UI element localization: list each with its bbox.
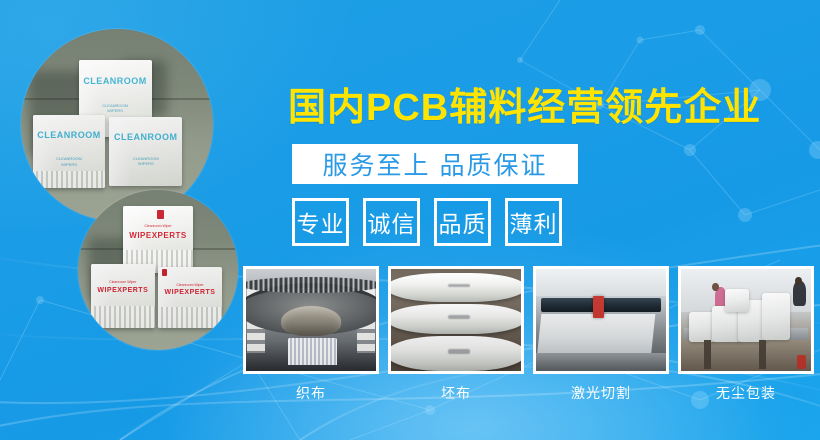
thumbnail-caption: 激光切割 <box>533 383 669 403</box>
wipes-pack: CLEANROOM CLEANROOMWIPERS <box>33 115 106 188</box>
process-thumbnail-greige-fabric: 坯布 <box>388 266 524 403</box>
keyword-label: 品质 <box>439 205 487 239</box>
wipexperts-pack: Cleanroom Wiper WIPEXPERTS <box>91 264 155 328</box>
keyword-box-quality: 品质 <box>434 198 491 246</box>
keyword-box-professional: 专业 <box>292 198 349 246</box>
process-thumbnail-weaving: 织布 <box>243 266 379 403</box>
wipes-pack: CLEANROOM CLEANROOMWIPERS <box>109 117 182 186</box>
knitting-machine-photo <box>243 266 379 374</box>
cleanroom-packing-photo <box>678 266 814 374</box>
keyword-box-low-margin: 薄利 <box>505 198 562 246</box>
thumbnail-caption: 无尘包装 <box>678 383 814 403</box>
slogan-text: 服务至上 品质保证 <box>323 146 548 182</box>
product-photo-wipexperts-packs: Cleanroom Wiper WIPEXPERTS Cleanroom Wip… <box>78 190 238 350</box>
thumbnail-caption: 坯布 <box>388 383 524 403</box>
keyword-label: 诚信 <box>368 205 416 239</box>
keyword-label: 专业 <box>297 205 345 239</box>
slogan-bar: 服务至上 品质保证 <box>292 144 578 184</box>
process-thumbnail-laser-cutting: 激光切割 <box>533 266 669 403</box>
process-thumbnail-group: 织布 坯布 激光切割 <box>243 266 814 403</box>
wipexperts-pack: Cleanroom Wiper WIPEXPERTS <box>158 267 222 328</box>
page-title: 国内PCB辅料经营领先企业 <box>288 76 788 131</box>
thumbnail-caption: 织布 <box>243 383 379 403</box>
process-thumbnail-cleanroom-packing: 无尘包装 <box>678 266 814 403</box>
laser-cutting-photo <box>533 266 669 374</box>
keyword-box-integrity: 诚信 <box>363 198 420 246</box>
keyword-box-group: 专业 诚信 品质 薄利 <box>292 198 562 246</box>
promotional-banner: CLEANROOM CLEANROOMWIPERS CLEANROOM CLEA… <box>0 0 820 440</box>
fabric-rolls-photo <box>388 266 524 374</box>
keyword-label: 薄利 <box>510 205 558 239</box>
